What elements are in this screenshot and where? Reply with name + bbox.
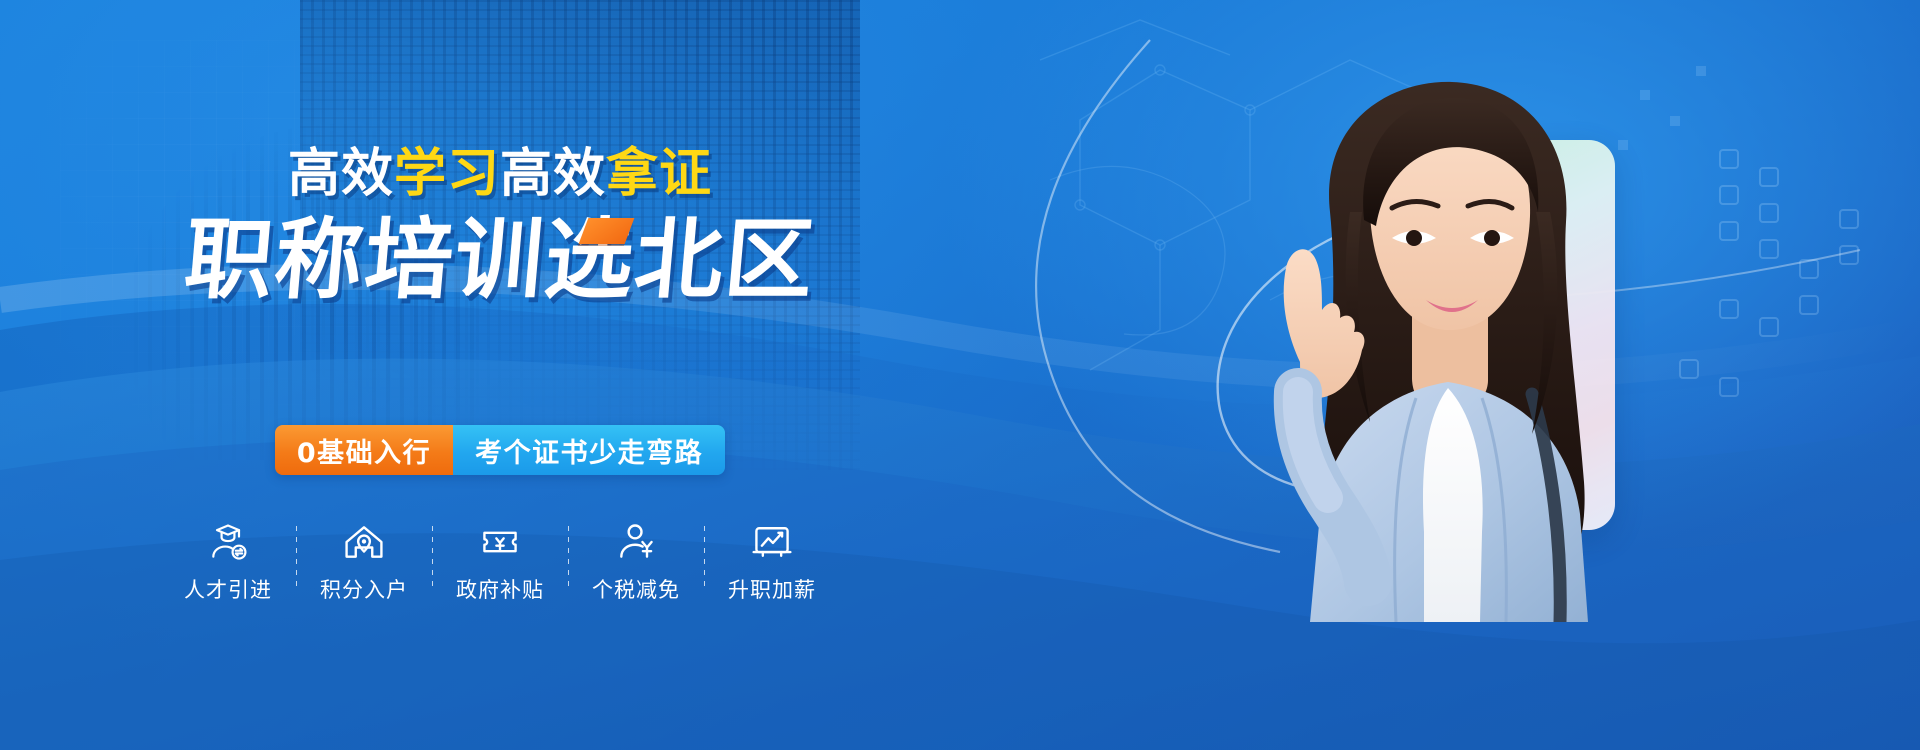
talent-cap-person-icon [206,520,250,564]
headline-main: 职称培训选北区 [181,212,819,307]
tagline-badge-row: 0基础入行 考个证书少走弯路 [0,425,1000,475]
badge-left-label: 0基础入行 [275,425,453,475]
banner-content: 高效学习高效拿证 职称培训选北区 0基础入行 考个证书少走弯路 [0,0,1100,750]
headline-subtitle: 高效学习高效拿证 [0,148,1000,200]
chart-rise-board-icon [750,520,794,564]
badge-right-label: 考个证书少走弯路 [453,425,725,475]
feature-label: 积分入户 [320,574,408,604]
promo-banner: 高效学习高效拿证 职称培训选北区 0基础入行 考个证书少走弯路 [0,0,1920,750]
feature-item-household[interactable]: 积分入户 [297,520,432,604]
person-yuan-icon [614,520,658,564]
feature-item-talent[interactable]: 人才引进 [161,520,296,604]
orange-accent-stroke [579,218,635,244]
house-pin-icon [342,520,386,564]
feature-label: 个税减免 [592,574,680,604]
person-photo-woman-pointing [1180,62,1700,622]
feature-label: 人才引进 [184,574,272,604]
headline-sub-part-3: 高效 [500,144,606,204]
coupon-yuan-icon [478,520,522,564]
feature-item-tax[interactable]: 个税减免 [569,520,704,604]
headline-main-text: 职称培训选北区 [180,208,819,311]
headline-sub-part-2: 学习 [394,144,500,204]
headline-block: 高效学习高效拿证 职称培训选北区 [0,148,1000,307]
headline-sub-part-4: 拿证 [606,144,712,204]
feature-list: 人才引进 积分入户 [0,520,1000,604]
feature-item-subsidy[interactable]: 政府补贴 [433,520,568,604]
feature-label: 政府补贴 [456,574,544,604]
tagline-badge: 0基础入行 考个证书少走弯路 [275,425,725,475]
headline-sub-part-1: 高效 [288,144,394,204]
feature-label: 升职加薪 [728,574,816,604]
hero-imagery [1100,0,1920,750]
feature-item-promotion[interactable]: 升职加薪 [705,520,840,604]
